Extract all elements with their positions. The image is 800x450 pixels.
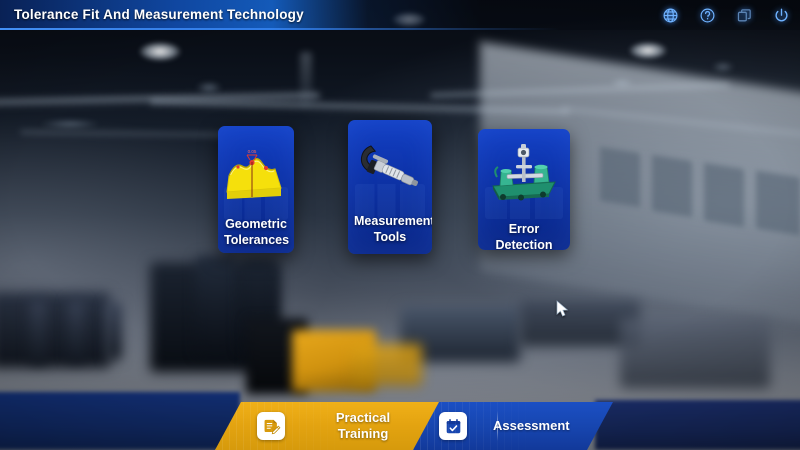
module-card-label: Geometric Tolerances <box>224 216 288 248</box>
nav-button-label: Practical Training <box>303 410 423 442</box>
module-card-label-line1: Measurement <box>354 213 426 229</box>
restore-window-icon[interactable] <box>735 6 753 24</box>
module-card-label: Measurement Tools <box>354 213 426 245</box>
power-icon[interactable] <box>772 6 790 24</box>
module-card-group: 0.05 Geometric Tolerances <box>0 0 800 450</box>
module-card-label-line2: Tolerances <box>224 232 288 248</box>
module-card-label: Error Detection <box>484 221 564 250</box>
calendar-check-icon <box>439 412 467 440</box>
nav-button-label-line2: Training <box>303 426 423 442</box>
module-card-error-detection[interactable]: Error Detection <box>478 129 570 250</box>
nav-button-label-line1: Assessment <box>493 418 570 434</box>
nav-button-label: Assessment <box>493 418 570 434</box>
module-card-geometric-tolerances[interactable]: 0.05 Geometric Tolerances <box>218 126 294 253</box>
svg-text:0.05: 0.05 <box>248 149 257 154</box>
module-card-label-line2: Tools <box>354 229 426 245</box>
bottom-navigation-bar: Practical Training Assessment <box>0 395 800 450</box>
document-pencil-icon <box>257 412 285 440</box>
help-icon[interactable] <box>698 6 716 24</box>
gauge-fixture-model-icon <box>478 141 570 207</box>
app-title: Tolerance Fit And Measurement Technology <box>14 0 304 30</box>
module-card-label-line1: Geometric <box>224 216 288 232</box>
module-card-measurement-tools[interactable]: Measurement Tools <box>348 120 432 254</box>
application-root: Tolerance Fit And Measurement Technology <box>0 0 800 450</box>
surface-profile-model-icon: 0.05 <box>218 144 294 206</box>
nav-button-label-line1: Practical <box>303 410 423 426</box>
nav-button-practical-training[interactable]: Practical Training <box>215 402 440 450</box>
micrometer-model-icon <box>348 140 432 204</box>
module-card-label-line1: Error Detection <box>484 221 564 250</box>
titlebar-icon-group <box>661 0 790 30</box>
globe-icon[interactable] <box>661 6 679 24</box>
nav-button-assessment[interactable]: Assessment <box>413 402 613 450</box>
title-bar: Tolerance Fit And Measurement Technology <box>0 0 800 30</box>
